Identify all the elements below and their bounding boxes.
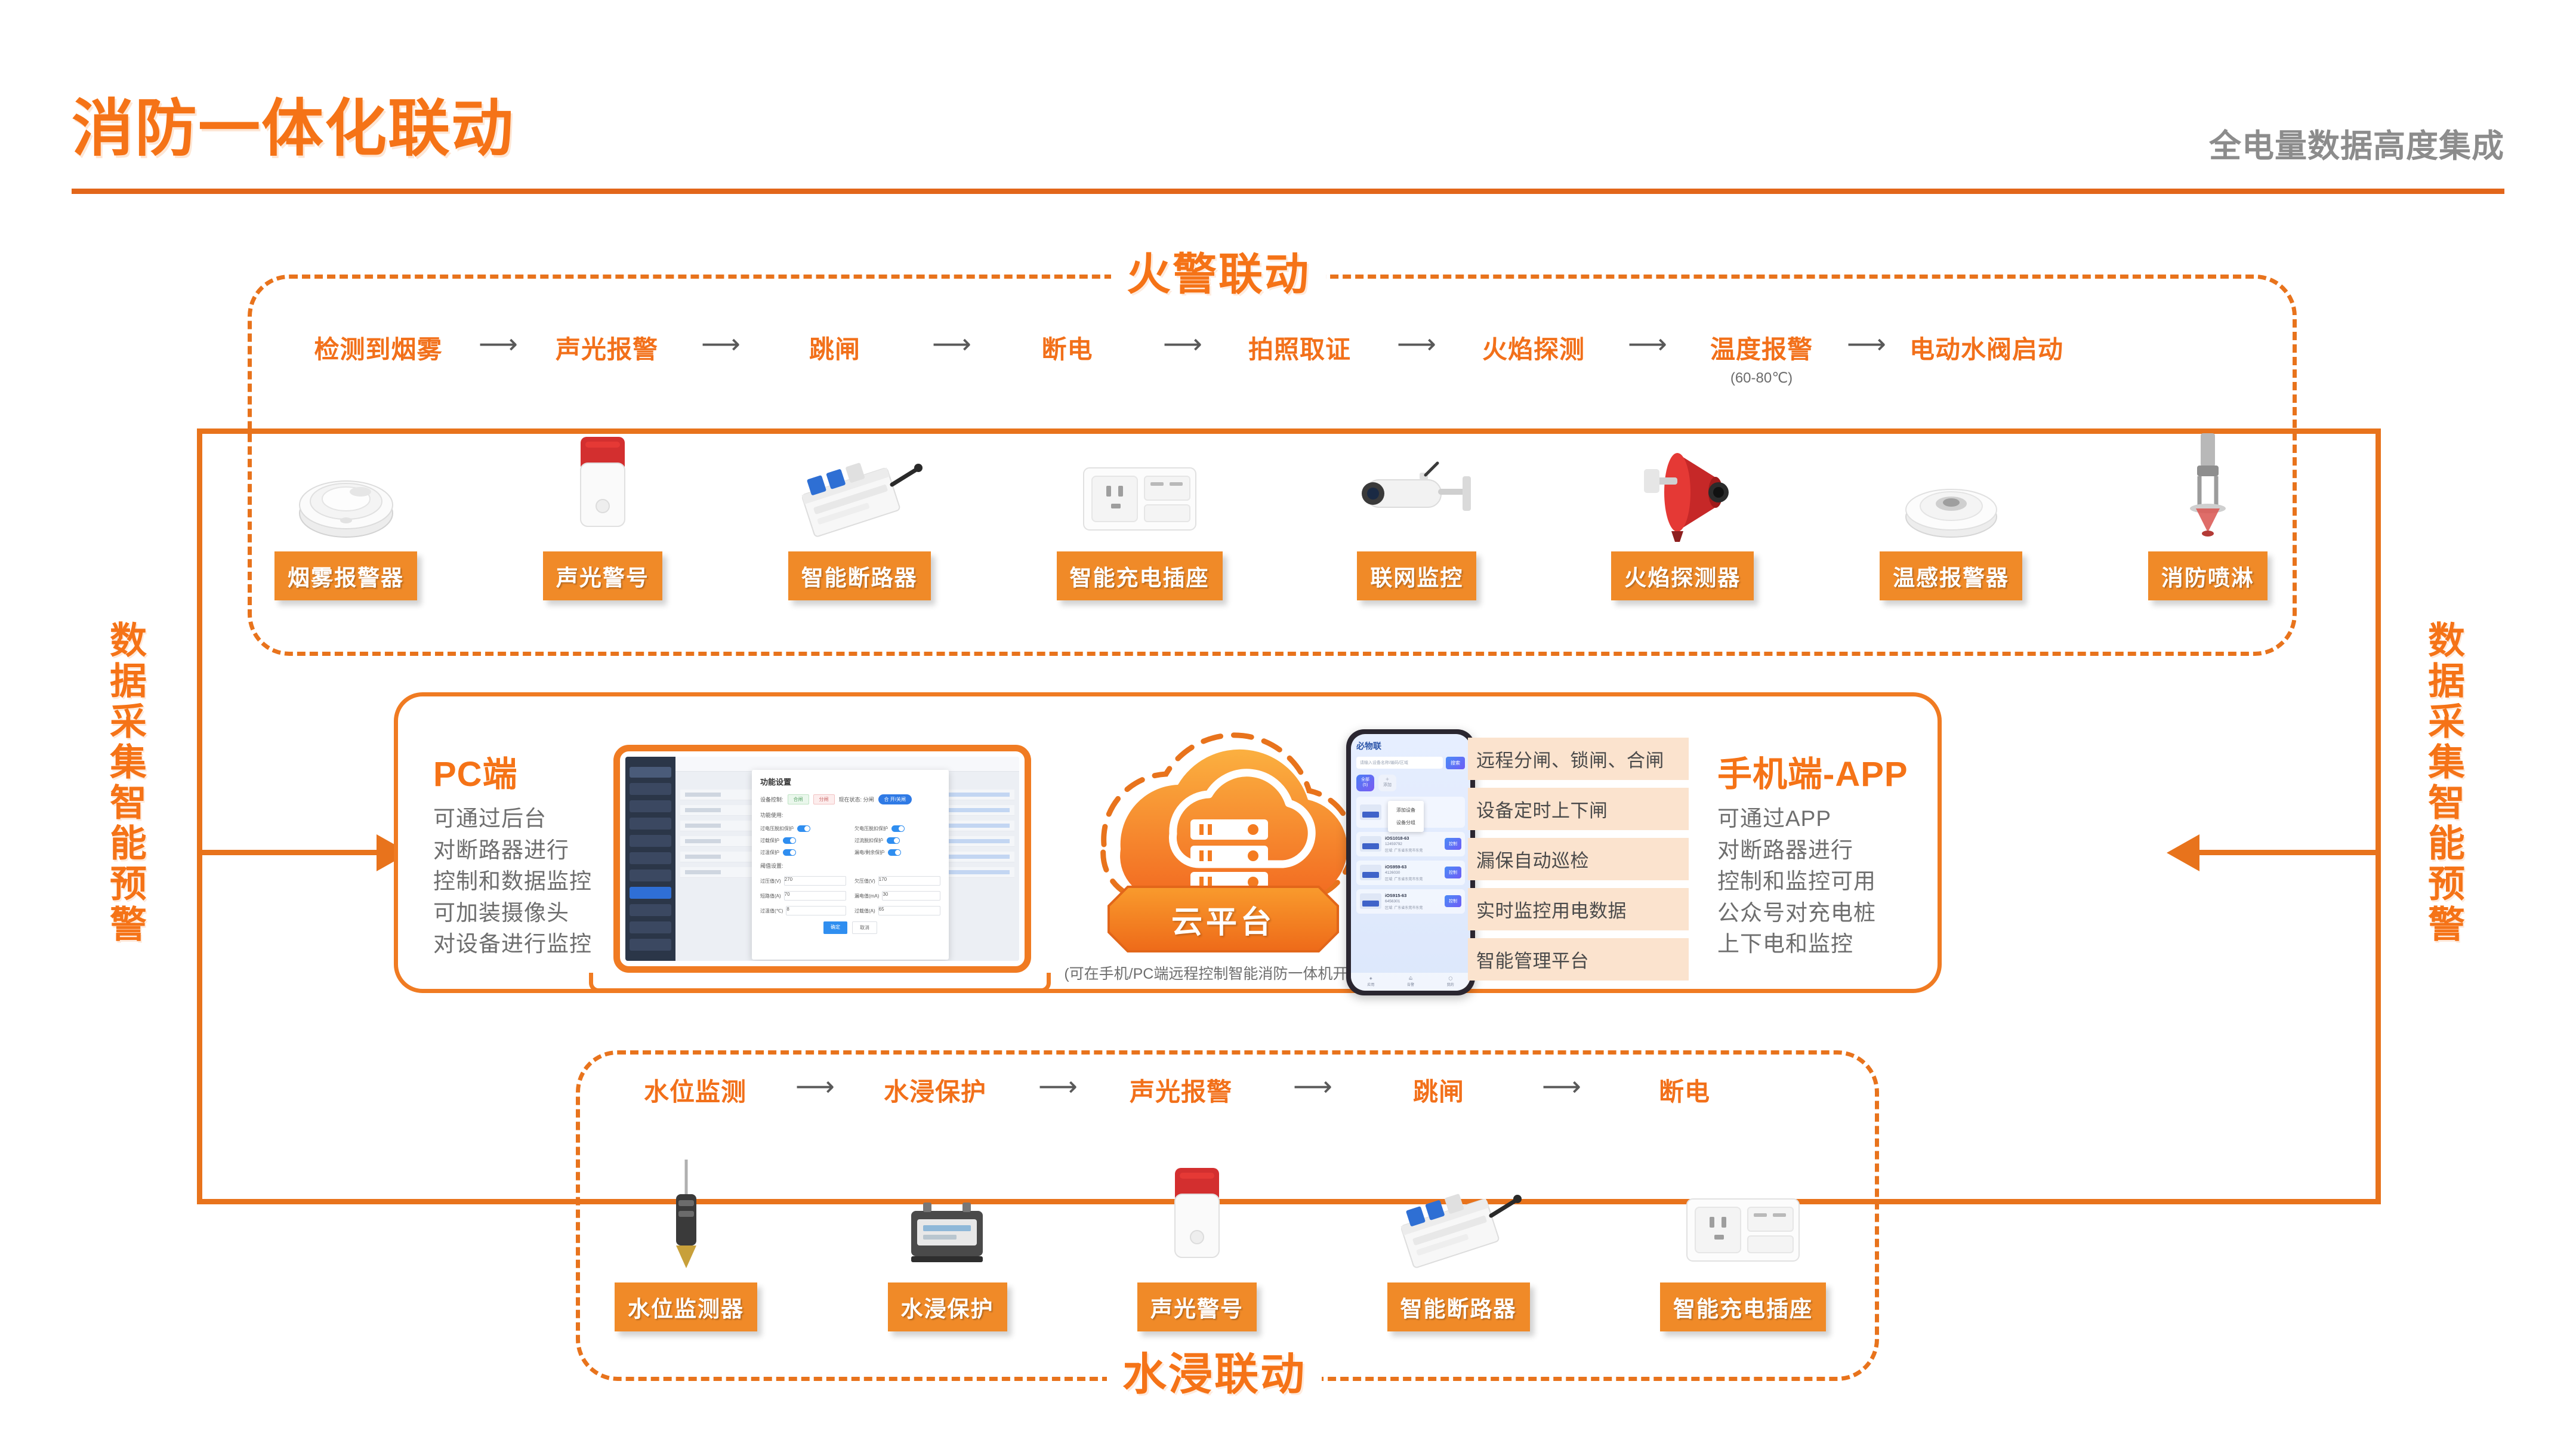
field-input[interactable]: 65 — [878, 906, 940, 915]
toggle-breaker-button[interactable]: 合 开/关闸 — [878, 794, 912, 804]
water-flow-step: 声光报警 — [1109, 1072, 1252, 1112]
field-label: 过温值(℃) — [760, 908, 783, 914]
laptop-mockup: 功能设置 设备控制: 合闸 分闸 现在状态: 分闸 合 开/关闸 功能使用: 过… — [613, 745, 1031, 992]
toggle-label: 漏电/剩余保护 — [854, 849, 884, 856]
toggle-switch[interactable] — [797, 825, 810, 832]
device-control-row: 设备控制: 合闸 分闸 现在状态: 分闸 合 开/关闸 — [760, 794, 940, 804]
device-area: 区域: 广东省东莞市东莞 — [1385, 905, 1441, 910]
sidebar-item[interactable] — [630, 835, 671, 847]
threshold-field[interactable]: 漏电值(mA)30 — [854, 891, 940, 901]
flow-arrow-left-to-center — [199, 850, 378, 855]
app-line: 控制和监控可用 — [1717, 866, 1876, 898]
dashboard-sidebar[interactable] — [625, 757, 675, 961]
fire-flow-row: 检测到烟雾 ⟶ 声光报警 ⟶ 跳闸 ⟶ 断电 ⟶ 拍照取证 ⟶ 火焰探测 ⟶ — [298, 329, 2244, 387]
device-serial: 4126030 — [1385, 871, 1441, 875]
arrow-icon: ⟶ — [907, 329, 997, 358]
smoke-detector-icon — [286, 418, 406, 543]
open-breaker-chip[interactable]: 分闸 — [813, 794, 835, 804]
smart-breaker-icon — [791, 418, 928, 543]
device-thumbnail-icon — [1360, 836, 1381, 852]
app-feature-item: 远程分闸、锁闸、合闸 — [1468, 738, 1689, 780]
nav-item-alarms[interactable]: 🛎告警 — [1391, 973, 1431, 991]
sidebar-item[interactable] — [630, 870, 671, 881]
confirm-button[interactable]: 确定 — [823, 921, 847, 934]
water-section-title: 水浸联动 — [1107, 1339, 1322, 1402]
pc-line: 控制和数据监控 — [433, 866, 592, 898]
toggle-switch[interactable] — [891, 825, 905, 832]
pc-line: 可通过后台 — [433, 803, 592, 835]
fire-flow-step: 温度报警 (60-80℃) — [1693, 329, 1830, 387]
toggle-switch[interactable] — [887, 837, 900, 844]
water-flow-step: 断电 — [1619, 1072, 1750, 1112]
smart-socket-icon — [1074, 418, 1205, 543]
side-label-right: 数据采集智能预警 — [2399, 621, 2464, 945]
device-area: 区域: 广东省东莞市东莞 — [1385, 876, 1441, 881]
device-label: 烟雾报警器 — [274, 551, 417, 600]
flow-step-label: 水浸保护 — [884, 1072, 986, 1108]
flow-arrow-right-to-center — [2198, 850, 2377, 855]
menu-item-add-device[interactable]: 添加设备 — [1388, 804, 1424, 816]
sound-light-alarm-icon — [564, 418, 641, 543]
device-label: 智能充电插座 — [1660, 1282, 1826, 1331]
toggle-switch[interactable] — [783, 849, 796, 856]
fire-flow-step: 检测到烟雾 — [298, 329, 458, 369]
app-line: 对断路器进行 — [1717, 835, 1876, 867]
flow-step-label: 拍照取证 — [1248, 329, 1351, 366]
pc-description: 可通过后台 对断路器进行 控制和数据监控 可加装摄像头 对设备进行监控 — [433, 803, 592, 960]
device-card[interactable]: 烟雾报警器 — [274, 418, 417, 600]
toggle-row[interactable]: 过载保护 — [760, 837, 846, 844]
device-card[interactable]: 声光警号 — [543, 418, 662, 600]
pc-section-title: PC端 — [433, 746, 518, 796]
fire-device-row: 烟雾报警器 声光警号 — [274, 418, 2268, 600]
water-flow-step: 水浸保护 — [863, 1072, 1007, 1112]
cloud-badge-label: 云平台 — [1104, 883, 1343, 955]
device-name: iOS1018-63 — [1385, 836, 1441, 841]
flow-step-label: 跳闸 — [1413, 1072, 1464, 1108]
toggle-label: 欠电压脱扣保护 — [854, 825, 888, 832]
arrow-icon: ⟶ — [1606, 329, 1689, 358]
field-input[interactable]: 170 — [878, 876, 940, 886]
app-search-row: 请输入设备名称/编码/区域 搜索 — [1356, 757, 1465, 769]
sidebar-item[interactable] — [630, 800, 671, 812]
search-input[interactable]: 请输入设备名称/编码/区域 — [1356, 757, 1443, 769]
device-card[interactable]: 智能充电插座 — [1660, 1149, 1826, 1331]
water-flow-step: 水位监测 — [624, 1072, 767, 1112]
tab-add-label: 添加 — [1383, 783, 1392, 787]
device-label: 声光警号 — [543, 551, 662, 600]
arrow-icon: ⟶ — [1138, 329, 1227, 358]
flow-step-label: 声光报警 — [556, 329, 658, 366]
water-flow-step: 跳闸 — [1373, 1072, 1504, 1112]
dashboard-main: 功能设置 设备控制: 合闸 分闸 现在状态: 分闸 合 开/关闸 功能使用: 过… — [675, 757, 1019, 961]
flame-detector-icon — [1620, 418, 1745, 543]
flow-step-label: 声光报警 — [1130, 1072, 1232, 1108]
flow-step-label: 电动水阀启动 — [1909, 329, 2063, 366]
device-card[interactable]: 火焰探测器 — [1611, 418, 1754, 600]
sidebar-item[interactable] — [630, 852, 671, 864]
app-context-menu[interactable]: 添加设备 设备分组 — [1388, 801, 1424, 832]
device-control-button[interactable]: 控制 — [1445, 867, 1461, 878]
threshold-field[interactable]: 短路值(A)70 — [760, 891, 846, 901]
toggle-grid: 过电压脱扣保护 欠电压脱扣保护 过载保护 过流脱扣保护 过温保护 漏电/剩余保护 — [760, 825, 940, 856]
device-control-button[interactable]: 控制 — [1445, 838, 1461, 850]
device-card[interactable]: 联网监控 — [1348, 418, 1485, 600]
sidebar-item[interactable] — [630, 939, 671, 951]
bell-icon: 🛎 — [1408, 976, 1413, 981]
heat-detector-icon — [1892, 418, 2011, 543]
toggle-switch[interactable] — [783, 837, 796, 844]
sprinkler-icon — [2166, 418, 2250, 543]
arrow-icon: ⟶ — [1256, 1072, 1369, 1100]
pc-line: 对断路器进行 — [433, 835, 592, 867]
fire-flow-step: 跳闸 — [766, 329, 903, 369]
nav-label: 告警 — [1407, 982, 1414, 987]
sidebar-item[interactable] — [630, 904, 671, 916]
toggle-label: 过温保护 — [760, 849, 779, 856]
water-device-row: 水位监测器 水浸保护 — [615, 1149, 1826, 1331]
fire-flow-step: 拍照取证 — [1231, 329, 1368, 369]
toggle-row[interactable]: 欠电压脱扣保护 — [854, 825, 940, 832]
flow-step-label: 断电 — [1659, 1072, 1710, 1108]
device-label: 水位监测器 — [615, 1282, 757, 1331]
control-label: 设备控制: — [760, 796, 783, 803]
device-label: 声光警号 — [1137, 1282, 1257, 1331]
layers-icon: ◈ — [1369, 976, 1372, 981]
header-divider — [72, 189, 2504, 194]
app-description: 可通过APP 对断路器进行 控制和监控可用 公众号对充电桩 上下电和监控 — [1717, 803, 1876, 960]
device-control-button[interactable]: 控制 — [1445, 895, 1461, 907]
fire-section-title: 火警联动 — [1111, 239, 1326, 303]
app-device-card[interactable]: iOS915-63 6456301 区域: 广东省东莞市东莞 控制 — [1356, 889, 1465, 914]
threshold-grid: 过压值(V)270 欠压值(V)170 短路值(A)70 漏电值(mA)30 过… — [760, 876, 940, 915]
device-card[interactable]: 声光警号 — [1137, 1149, 1257, 1331]
toggle-label: 过电压脱扣保护 — [760, 825, 794, 832]
sidebar-item[interactable] — [630, 921, 671, 933]
nav-label: 我的 — [1447, 982, 1454, 987]
app-tabs: 全部 (5) ＋ 添加 — [1356, 775, 1465, 791]
app-line: 可通过APP — [1717, 803, 1876, 835]
tab-add[interactable]: ＋ 添加 — [1378, 775, 1396, 791]
device-label: 智能充电插座 — [1057, 551, 1223, 600]
device-card[interactable]: 智能充电插座 — [1057, 418, 1223, 600]
app-feature-list: 远程分闸、锁闸、合闸 设备定时上下闸 漏保自动巡检 实时监控用电数据 智能管理平… — [1468, 738, 1689, 988]
device-label: 消防喷淋 — [2148, 551, 2268, 600]
status-label: 现在状态: 分闸 — [839, 796, 874, 803]
menu-item-device-group[interactable]: 设备分组 — [1388, 816, 1424, 829]
threshold-field[interactable]: 过载值(A)65 — [854, 906, 940, 915]
device-thumbnail-icon — [1360, 804, 1381, 820]
arrow-icon: ⟶ — [770, 1072, 860, 1100]
cloud-platform-badge: 云平台 — [1104, 883, 1343, 958]
device-info: iOS959-63 4126030 区域: 广东省东莞市东莞 — [1385, 864, 1441, 881]
toggle-row[interactable]: 过电压脱扣保护 — [760, 825, 846, 832]
device-card[interactable]: 智能断路器 — [788, 418, 931, 600]
app-device-card[interactable]: iOS959-63 4126030 区域: 广东省东莞市东莞 控制 — [1356, 861, 1465, 885]
device-serial: 6456301 — [1385, 899, 1441, 904]
app-line: 上下电和监控 — [1717, 929, 1876, 960]
toggle-row[interactable]: 漏电/剩余保护 — [854, 849, 940, 856]
modal-actions: 确定 取消 — [760, 921, 940, 934]
field-input[interactable]: 30 — [882, 891, 940, 901]
device-area: 区域: 广东省东莞市东莞 — [1385, 847, 1441, 853]
sound-light-alarm-icon — [1158, 1149, 1236, 1274]
flow-step-label: 断电 — [1041, 329, 1093, 366]
pc-line: 对设备进行监控 — [433, 929, 592, 960]
threshold-field[interactable]: 过温值(℃)8 — [760, 906, 846, 915]
app-feature-item: 漏保自动巡检 — [1468, 838, 1689, 880]
arrow-icon: ⟶ — [1372, 329, 1461, 358]
flow-step-label: 跳闸 — [809, 329, 860, 366]
flow-step-label: 温度报警 — [1710, 329, 1813, 366]
device-thumbnail-icon — [1360, 865, 1381, 880]
arrow-icon: ⟶ — [1508, 1072, 1615, 1100]
close-breaker-chip[interactable]: 合闸 — [788, 794, 809, 804]
search-button[interactable]: 搜索 — [1446, 757, 1465, 769]
tab-all-count: (5) — [1363, 783, 1368, 787]
app-brand: 必物联 — [1356, 740, 1465, 752]
page-subtitle: 全电量数据高度集成 — [2209, 119, 2504, 167]
nav-item-apps[interactable]: ◈应用 — [1351, 973, 1391, 991]
sidebar-logo — [630, 767, 671, 778]
sidebar-item-active[interactable] — [630, 887, 671, 899]
water-immersion-module-icon — [897, 1149, 998, 1274]
cancel-button[interactable]: 取消 — [852, 921, 877, 934]
device-name: iOS959-63 — [1385, 864, 1441, 870]
device-label: 联网监控 — [1357, 551, 1476, 600]
field-input[interactable]: 8 — [786, 906, 846, 915]
field-label: 过载值(A) — [854, 908, 875, 914]
field-label: 短路值(A) — [760, 893, 781, 899]
device-label: 温感报警器 — [1880, 551, 2022, 600]
smart-breaker-icon — [1390, 1149, 1527, 1274]
app-feature-item: 智能管理平台 — [1468, 938, 1689, 981]
app-line: 公众号对充电桩 — [1717, 898, 1876, 929]
arrow-icon: ⟶ — [679, 329, 763, 358]
fire-flow-step: 声光报警 — [538, 329, 675, 369]
field-label: 过压值(V) — [760, 878, 781, 884]
toggle-switch[interactable] — [888, 849, 901, 856]
fire-flow-step: 火焰探测 — [1465, 329, 1602, 369]
app-feature-item: 设备定时上下闸 — [1468, 788, 1689, 830]
device-label: 火焰探测器 — [1611, 551, 1754, 600]
device-card[interactable]: 水位监测器 — [615, 1149, 757, 1331]
device-label: 水浸保护 — [888, 1282, 1007, 1331]
app-screen[interactable]: 必物联 请输入设备名称/编码/区域 搜索 全部 (5) ＋ 添加 添加设备 设备… — [1351, 734, 1470, 991]
nav-label: 应用 — [1367, 982, 1374, 987]
fire-flow-step: 电动水阀启动 — [1903, 329, 2070, 369]
toggle-label: 过流脱扣保护 — [854, 837, 883, 844]
arrow-icon: ⟶ — [462, 329, 535, 358]
threshold-field[interactable]: 过压值(V)270 — [760, 876, 846, 886]
nav-item-profile[interactable]: ◯我的 — [1430, 973, 1470, 991]
device-card[interactable]: 消防喷淋 — [2148, 418, 2268, 600]
app-bottom-nav[interactable]: ◈应用 🛎告警 ◯我的 — [1351, 973, 1470, 991]
toggle-label: 过载保护 — [760, 837, 779, 844]
infographic-canvas: 消防一体化联动 全电量数据高度集成 数据采集智能预警 数据采集智能预警 火警联动… — [0, 0, 2576, 1449]
flow-step-label: 检测到烟雾 — [314, 329, 442, 366]
sidebar-item[interactable] — [630, 783, 671, 795]
user-icon: ◯ — [1448, 976, 1452, 981]
laptop-base — [589, 973, 1051, 992]
network-camera-icon — [1348, 418, 1485, 543]
field-input[interactable]: 70 — [784, 891, 846, 901]
frame-right-edge — [2376, 428, 2381, 1204]
plus-icon: ＋ — [1386, 778, 1390, 782]
toggle-row[interactable]: 过温保护 — [760, 849, 846, 856]
sidebar-item[interactable] — [630, 818, 671, 830]
field-label: 漏电值(mA) — [854, 893, 879, 899]
field-input[interactable]: 270 — [784, 876, 846, 886]
app-device-card[interactable]: iOS1018-63 12459792 区域: 广东省东莞市东莞 控制 — [1356, 832, 1465, 856]
tab-all[interactable]: 全部 (5) — [1356, 775, 1374, 791]
water-flow-row: 水位监测 ⟶ 水浸保护 ⟶ 声光报警 ⟶ 跳闸 ⟶ 断电 — [624, 1072, 1829, 1112]
page-title: 消防一体化联动 — [72, 78, 514, 168]
app-feature-item: 实时监控用电数据 — [1468, 888, 1689, 930]
side-label-left: 数据采集智能预警 — [81, 621, 146, 945]
device-name: iOS915-63 — [1385, 893, 1441, 898]
tab-all-label: 全部 — [1361, 778, 1369, 782]
device-thumbnail-icon — [1360, 893, 1381, 909]
field-label: 欠压值(V) — [854, 878, 875, 884]
device-info: iOS915-63 6456301 区域: 广东省东莞市东莞 — [1385, 893, 1441, 910]
arrow-icon: ⟶ — [1010, 1072, 1106, 1100]
device-label: 智能断路器 — [1387, 1282, 1530, 1331]
function-section-label: 功能使用: — [760, 811, 940, 819]
fire-flow-step: 断电 — [1000, 329, 1134, 369]
flow-step-sub: (60-80℃) — [1730, 369, 1793, 387]
device-card[interactable]: 水浸保护 — [888, 1149, 1007, 1331]
threshold-field[interactable]: 欠压值(V)170 — [854, 876, 940, 886]
threshold-section-label: 阈值设置: — [760, 862, 940, 870]
device-card[interactable]: 智能断路器 — [1387, 1149, 1530, 1331]
toggle-row[interactable]: 过流脱扣保护 — [854, 837, 940, 844]
laptop-lid: 功能设置 设备控制: 合闸 分闸 现在状态: 分闸 合 开/关闸 功能使用: 过… — [613, 745, 1031, 973]
flow-step-label: 水位监测 — [644, 1072, 746, 1108]
arrow-icon: ⟶ — [1834, 329, 1899, 358]
flow-step-label: 火焰探测 — [1482, 329, 1585, 366]
modal-title: 功能设置 — [760, 776, 940, 787]
frame-left-edge — [197, 428, 202, 1204]
device-serial: 12459792 — [1385, 842, 1441, 846]
phone-mockup: 必物联 请输入设备名称/编码/区域 搜索 全部 (5) ＋ 添加 添加设备 设备… — [1346, 729, 1475, 995]
function-settings-modal[interactable]: 功能设置 设备控制: 合闸 分闸 现在状态: 分闸 合 开/关闸 功能使用: 过… — [752, 770, 949, 960]
device-info: iOS1018-63 12459792 区域: 广东省东莞市东莞 — [1385, 836, 1441, 853]
app-section-title: 手机端-APP — [1717, 746, 1908, 796]
water-level-probe-icon — [653, 1149, 719, 1274]
pc-dashboard-screen[interactable]: 功能设置 设备控制: 合闸 分闸 现在状态: 分闸 合 开/关闸 功能使用: 过… — [625, 757, 1019, 961]
device-label: 智能断路器 — [788, 551, 931, 600]
device-card[interactable]: 温感报警器 — [1880, 418, 2022, 600]
smart-socket-icon — [1677, 1149, 1809, 1274]
pc-line: 可加装摄像头 — [433, 898, 592, 929]
